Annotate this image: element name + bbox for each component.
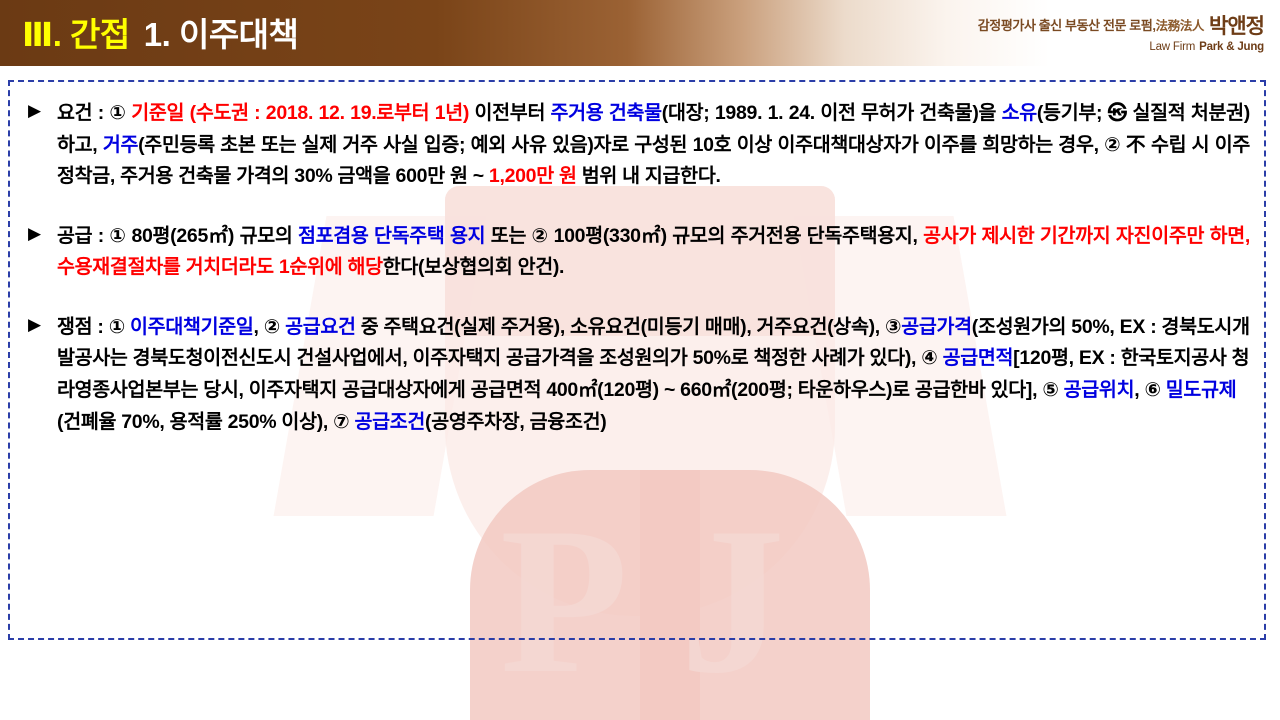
text-run-black: ① xyxy=(104,102,131,124)
text-run-blue: 공급가격 xyxy=(901,316,972,338)
logo-tagline: 감정평가사 출신 부동산 전문 로펌, xyxy=(978,18,1156,33)
text-run-black: , ② xyxy=(254,316,286,338)
text-run-blue: 거주 xyxy=(103,134,138,156)
bullet-text-requirements: 요건 : ① 기준일 (수도권 : 2018. 12. 19.로부터 1년) 이… xyxy=(57,98,1250,193)
bullet-marker-icon: ▶ xyxy=(28,99,41,124)
bullet-marker-icon: ▶ xyxy=(28,222,41,247)
bullet-label-requirements: 요건 : xyxy=(57,102,104,124)
text-run-blue: 공급요건 xyxy=(285,316,356,338)
page-title: Ⅲ. 간접1. 이주대책 xyxy=(22,8,298,56)
text-run-blue: 공급면적 xyxy=(943,347,1014,369)
text-run-blue: 소유 xyxy=(1002,102,1037,124)
title-chapter: Ⅲ. 간접 xyxy=(22,16,130,53)
text-run-black: 이전부터 xyxy=(469,102,550,124)
logo-law-firm-label: Law Firm xyxy=(1149,41,1195,53)
bullet-label-supply: 공급 : xyxy=(57,225,104,247)
bullet-text-supply: 공급 : ① 80평(265㎡) 규모의 점포겸용 단독주택 용지 또는 ② 1… xyxy=(57,221,1250,284)
bullet-item-issues: ▶ 쟁점 : ① 이주대책기준일, ② 공급요건 중 주택요건(실제 주거용),… xyxy=(24,312,1250,438)
rich-text-issues: ① 이주대책기준일, ② 공급요건 중 주택요건(실제 주거용), 소유요건(미… xyxy=(57,316,1250,433)
text-run-blue: 주거용 건축물 xyxy=(551,102,662,124)
text-run-blue: 점포겸용 단독주택 용지 xyxy=(298,225,485,247)
logo-firm-name-en: Park & Jung xyxy=(1195,41,1264,53)
text-run-black: ① xyxy=(104,316,130,338)
rich-text-requirements: ① 기준일 (수도권 : 2018. 12. 19.로부터 1년) 이전부터 주… xyxy=(57,102,1250,187)
bullet-item-requirements: ▶ 요건 : ① 기준일 (수도권 : 2018. 12. 19.로부터 1년)… xyxy=(24,98,1250,193)
logo-hanja: 法務法人 xyxy=(1156,19,1204,33)
bullet-marker-icon: ▶ xyxy=(28,313,41,338)
text-run-black: ① 80평(265㎡) 규모의 xyxy=(104,225,298,247)
text-run-black: 중 주택요건(실제 주거용), 소유요건(미등기 매매), 거주요건(상속), … xyxy=(356,316,902,338)
rich-text-supply: ① 80평(265㎡) 규모의 점포겸용 단독주택 용지 또는 ② 100평(3… xyxy=(57,225,1250,279)
text-run-blue: 밀도규제 xyxy=(1166,379,1237,401)
text-run-black: (대장; 1989. 1. 24. 이전 무허가 건축물)을 xyxy=(662,102,1002,124)
logo-firm-name-ko: 박앤정 xyxy=(1204,15,1264,38)
text-run-black: 한다(보상협의회 안건). xyxy=(383,256,564,278)
logo-english-line: Law FirmPark & Jung xyxy=(978,41,1264,53)
logo-tagline-line: 감정평가사 출신 부동산 전문 로펌,法務法人박앤정 xyxy=(978,10,1264,40)
text-run-black: 또는 ② 100평(330㎡) 규모의 주거전용 단독주택용지, xyxy=(485,225,923,247)
bullet-item-supply: ▶ 공급 : ① 80평(265㎡) 규모의 점포겸용 단독주택 용지 또는 ②… xyxy=(24,221,1250,284)
bullet-label-issues: 쟁점 : xyxy=(57,316,104,338)
title-topic: 1. 이주대책 xyxy=(130,16,299,53)
text-run-blue: 이주대책기준일 xyxy=(130,316,253,338)
text-run-blue: 공급조건 xyxy=(354,411,425,433)
bullet-text-issues: 쟁점 : ① 이주대책기준일, ② 공급요건 중 주택요건(실제 주거용), 소… xyxy=(57,312,1250,438)
firm-logo: 감정평가사 출신 부동산 전문 로펌,法務法人박앤정 Law FirmPark … xyxy=(978,10,1264,53)
text-run-black: (공영주차장, 금융조건) xyxy=(425,411,606,433)
text-run-black: 범위 내 지급한다. xyxy=(577,165,721,187)
text-run-blue: 공급위치 xyxy=(1064,379,1135,401)
text-run-black: (건폐율 70%, 용적률 250% 이상), ⑦ xyxy=(57,411,354,433)
slide-content-box: ▶ 요건 : ① 기준일 (수도권 : 2018. 12. 19.로부터 1년)… xyxy=(8,80,1266,640)
slide-header-bar: Ⅲ. 간접1. 이주대책 감정평가사 출신 부동산 전문 로펌,法務法人박앤정 … xyxy=(0,0,1280,66)
text-run-red: 1,200만 원 xyxy=(489,165,577,187)
text-run-black: , ⑥ xyxy=(1134,379,1166,401)
text-run-red: 기준일 (수도권 : 2018. 12. 19.로부터 1년) xyxy=(131,102,469,124)
